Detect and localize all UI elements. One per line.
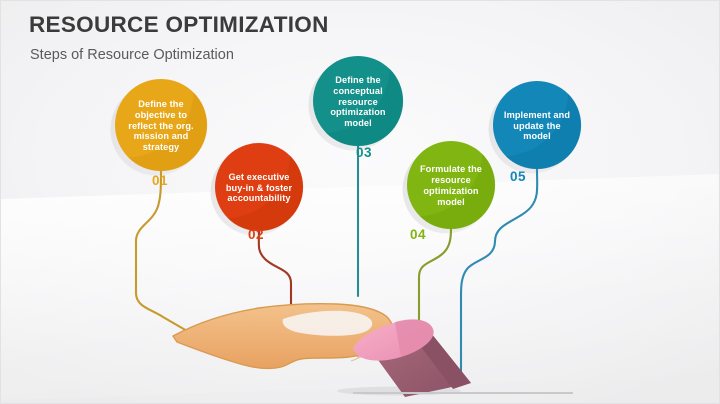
diagram-canvas <box>1 1 720 404</box>
bubble-group[interactable] <box>115 56 581 231</box>
hand-illustration <box>173 304 471 397</box>
infographic-slide: RESOURCE OPTIMIZATION Steps of Resource … <box>0 0 720 404</box>
connector-line-01 <box>136 171 201 339</box>
